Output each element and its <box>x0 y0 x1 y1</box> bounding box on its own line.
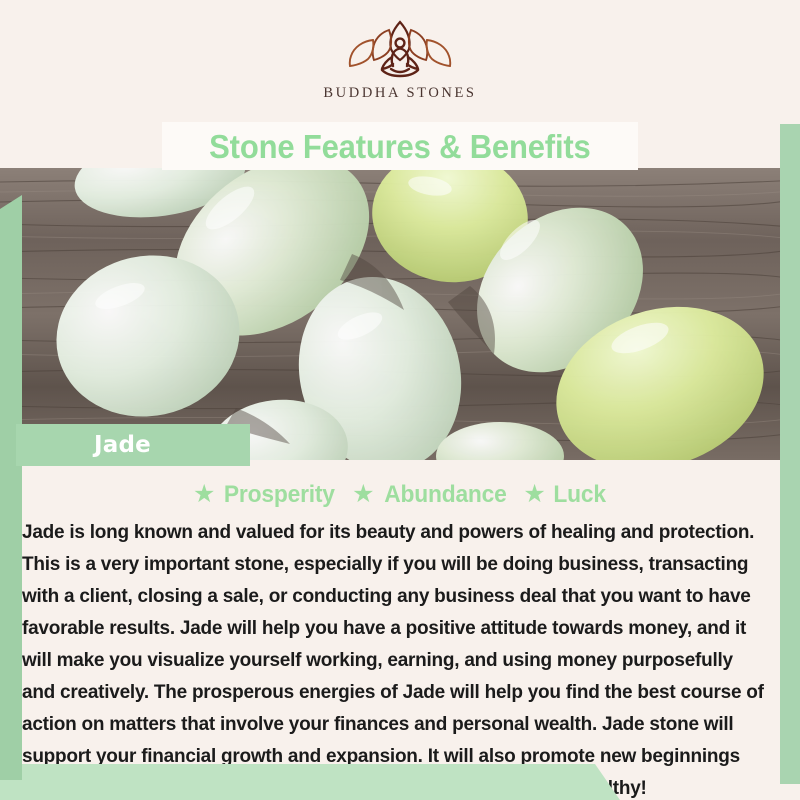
content-section: ★ Prosperity ★ Abundance ★ Luck Jade is … <box>0 460 800 800</box>
keyword-label: Abundance <box>384 481 506 509</box>
keyword-item: ★ Luck <box>523 481 607 509</box>
right-accent-bar <box>780 124 800 784</box>
left-accent-bar <box>0 195 22 780</box>
brand-header: BUDDHA STONES <box>0 0 800 120</box>
keyword-list: ★ Prosperity ★ Abundance ★ Luck <box>0 460 800 509</box>
bottom-accent-band <box>0 764 620 800</box>
brand-name: BUDDHA STONES <box>323 85 476 102</box>
section-title-banner: Stone Features & Benefits <box>162 122 638 170</box>
star-icon: ★ <box>352 482 374 507</box>
stone-name-tag: Jade <box>16 424 250 466</box>
stone-name: Jade <box>94 432 151 458</box>
infographic-page: BUDDHA STONES <box>0 0 800 800</box>
stone-description: Jade is long known and valued for its be… <box>22 517 771 800</box>
page-title: Stone Features & Benefits <box>209 130 590 163</box>
star-icon: ★ <box>523 482 545 507</box>
lotus-meditation-icon <box>342 16 458 80</box>
keyword-label: Prosperity <box>224 481 335 509</box>
keyword-item: ★ Abundance <box>352 481 509 509</box>
keyword-item: ★ Prosperity <box>193 481 338 509</box>
stone-photo <box>0 168 800 460</box>
star-icon: ★ <box>193 482 215 507</box>
keyword-label: Luck <box>553 481 605 509</box>
